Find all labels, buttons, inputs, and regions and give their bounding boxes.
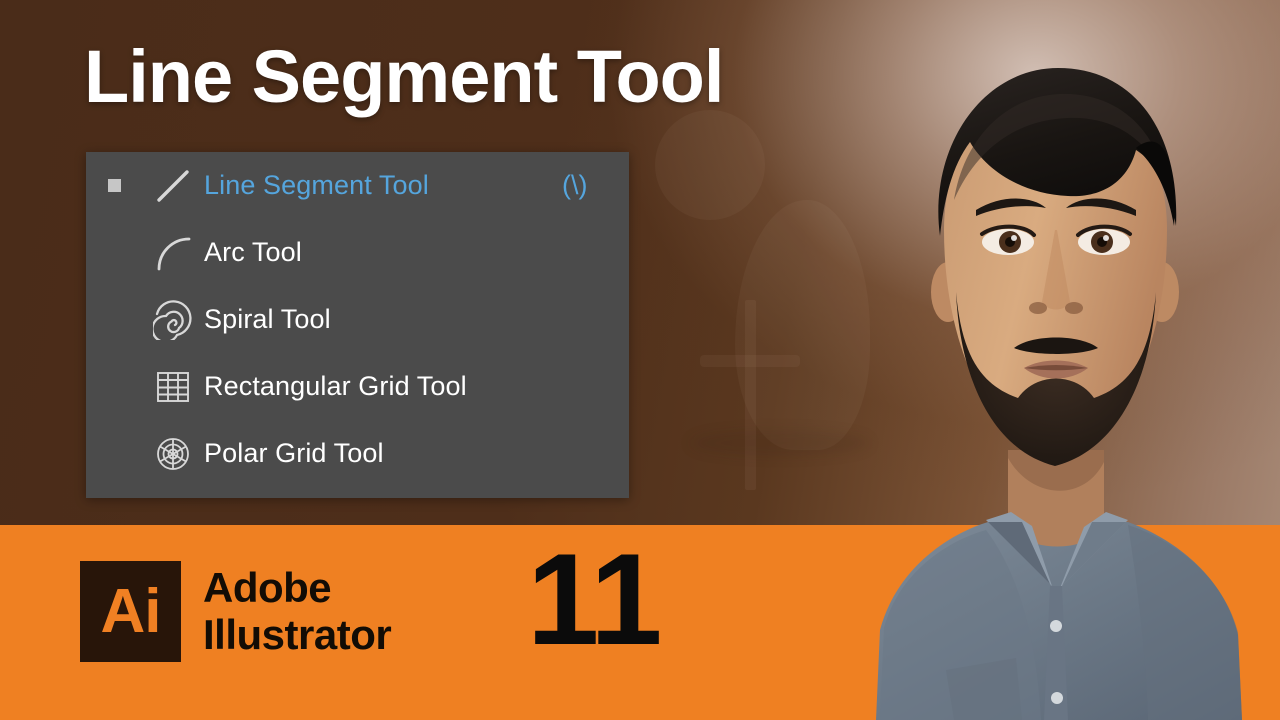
tool-item-label: Polar Grid Tool bbox=[204, 438, 384, 469]
polar-grid-icon bbox=[142, 434, 204, 474]
tool-item-spiral[interactable]: Spiral Tool bbox=[86, 286, 629, 353]
watermark-stool-post bbox=[745, 300, 756, 490]
page-title: Line Segment Tool bbox=[84, 40, 723, 114]
watermark-stool-seat bbox=[700, 355, 800, 367]
tool-item-rectangular-grid[interactable]: Rectangular Grid Tool bbox=[86, 353, 629, 420]
selected-bullet-icon bbox=[108, 179, 121, 192]
tool-item-label: Rectangular Grid Tool bbox=[204, 371, 467, 402]
tool-item-shortcut: (\) bbox=[562, 170, 587, 201]
presenter-portrait bbox=[836, 30, 1266, 720]
tool-item-label: Spiral Tool bbox=[204, 304, 331, 335]
brand-line-illustrator: Illustrator bbox=[203, 611, 391, 658]
tool-item-label: Arc Tool bbox=[204, 237, 302, 268]
arc-icon bbox=[142, 233, 204, 273]
watermark-silhouette-head bbox=[655, 110, 765, 220]
tool-item-polar-grid[interactable]: Polar Grid Tool bbox=[86, 420, 629, 487]
logo-text: Ai bbox=[101, 581, 161, 643]
tool-item-arc[interactable]: Arc Tool bbox=[86, 219, 629, 286]
spiral-icon bbox=[142, 300, 204, 340]
line-segment-icon bbox=[142, 166, 204, 206]
brand-name: Adobe Illustrator bbox=[203, 564, 391, 658]
adobe-illustrator-logo-icon: Ai bbox=[80, 561, 181, 662]
tool-item-label: Line Segment Tool bbox=[204, 170, 429, 201]
tool-flyout-panel: Line Segment Tool (\) Arc Tool Spiral To… bbox=[86, 152, 629, 498]
rectangular-grid-icon bbox=[142, 367, 204, 407]
brand-line-adobe: Adobe bbox=[203, 564, 391, 611]
selected-indicator-cell bbox=[86, 179, 142, 192]
tool-item-line-segment[interactable]: Line Segment Tool (\) bbox=[86, 152, 629, 219]
episode-number: 11 bbox=[527, 534, 660, 664]
